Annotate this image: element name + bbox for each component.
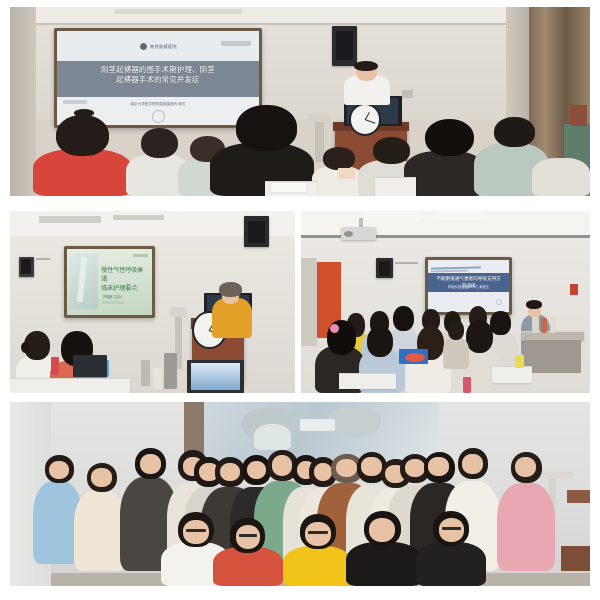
slide-title-line2: 起搏器手术的常见并发症 xyxy=(69,75,247,86)
slide-title-1: 阴茎起搏器的围手术期护理、阴茎 起搏器手术的常见并发症 xyxy=(69,65,247,86)
wall-speaker-icon xyxy=(332,26,358,66)
ceiling-vent-2b xyxy=(113,215,164,220)
panel-respiratory-nursing: 慢性气性呼吸衰竭 临床护理要点 护理部 主讲人 xyxy=(10,211,295,393)
ceiling-light-2 xyxy=(437,213,483,218)
wall-speaker-icon-3 xyxy=(376,258,393,278)
slide-subtitle-1: 南京大学医学院附属鼓楼医院 黄芳 xyxy=(93,102,223,107)
projection-screen-3: 不能耐受通气患者的呼吸支持方案选择 呼吸科重症监护中心 黄医生 xyxy=(425,257,512,315)
panel-academic-seminar: 不能耐受通气患者的呼吸支持方案选择 呼吸科重症监护中心 黄医生 xyxy=(301,211,590,393)
ceiling-vent xyxy=(114,9,242,14)
presenter-1-hair xyxy=(354,61,378,71)
hospital-logo-icon xyxy=(139,42,148,51)
wall-speaker-icon-2b xyxy=(19,257,35,277)
wall-speaker-icon-2 xyxy=(244,216,270,247)
projection-screen-2: 慢性气性呼吸衰竭 临床护理要点 护理部 主讲人 xyxy=(64,246,155,319)
slide-subtitle-3: 呼吸科重症监护中心 黄医生 xyxy=(438,285,499,289)
slide-title-2-line2: 临床护理要点 xyxy=(101,285,148,294)
slide-logo-text: 南京鼓楼医院 xyxy=(150,45,177,49)
slide-title-2: 慢性气性呼吸衰竭 临床护理要点 xyxy=(101,267,148,294)
slide-logo-1: 南京鼓楼医院 xyxy=(113,40,202,53)
presenter-2-hair xyxy=(219,282,242,297)
slide-title-2-line1: 慢性气性呼吸衰竭 xyxy=(101,267,148,285)
panel-lecture-hall-pacemaker: 南京鼓楼医院 阴茎起搏器的围手术期护理、阴茎 起搏器手术的常见并发症 南京大学医… xyxy=(10,7,590,196)
laptop-2 xyxy=(73,355,107,377)
ceiling-light xyxy=(365,214,423,219)
slide-subtitle-2: 护理部 主讲人 xyxy=(103,295,142,299)
slide-title-line1: 阴茎起搏器的围手术期护理、阴茎 xyxy=(69,65,247,76)
ceiling-vent-2 xyxy=(39,216,102,222)
water-bottle xyxy=(51,357,58,375)
display-monitor-2 xyxy=(187,360,244,393)
projector xyxy=(341,227,376,240)
presenter-2-body xyxy=(212,298,252,338)
wall-clock-1 xyxy=(349,103,381,135)
slide-decoration-ring xyxy=(152,110,165,123)
panel-group-photo xyxy=(10,402,590,586)
photo-collage: 南京鼓楼医院 阴茎起搏器的围手术期护理、阴茎 起搏器手术的常见并发症 南京大学医… xyxy=(0,0,600,600)
